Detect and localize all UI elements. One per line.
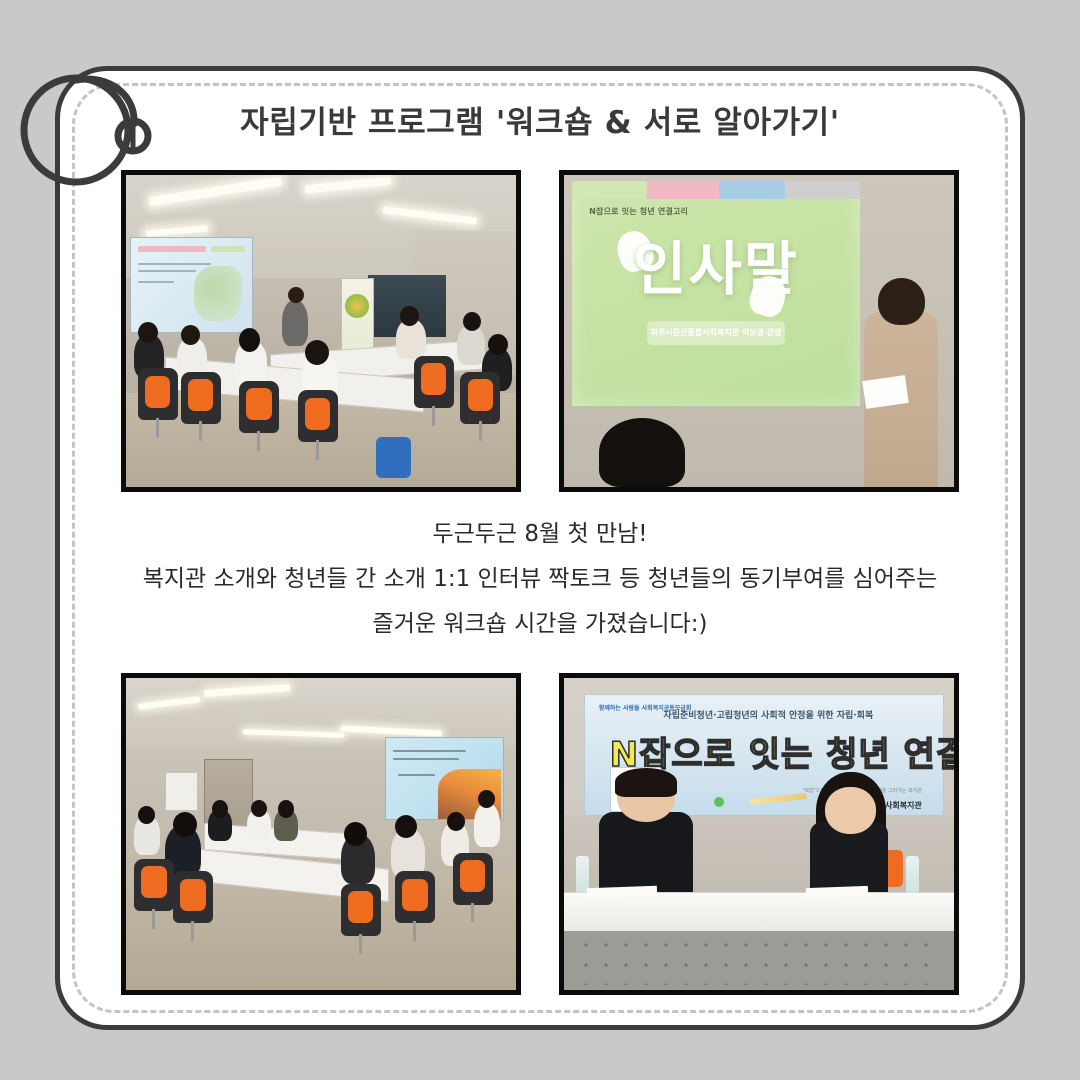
photo-3-scene	[126, 678, 516, 990]
photo-one-on-one-interview[interactable]: 함께하는 사람들 사회복지공동모금회 자립준비청년·고립청년의 사회적 안정을 …	[559, 673, 959, 995]
projection-screen-1	[130, 237, 253, 333]
photo-seminar-room-presentation[interactable]	[121, 170, 521, 492]
ring-clip-icon	[14, 58, 164, 208]
slide-kicker: N잡으로 잇는 청년 연결고리	[589, 206, 688, 217]
caption-line-2: 복지관 소개와 청년들 간 소개 1:1 인터뷰 짝토크 등 청년들의 동기부여…	[90, 557, 990, 602]
caption-line-1: 두근두근 8월 첫 만남!	[90, 512, 990, 557]
banner-subtitle: 자립준비청년·고립청년의 사회적 안정을 위한 자립·회복	[663, 708, 873, 721]
photo-row-bottom: 함께하는 사람들 사회복지공동모금회 자립준비청년·고립청년의 사회적 안정을 …	[121, 673, 959, 995]
photo-greeting-slide[interactable]: N잡으로 잇는 청년 연결고리 인사말 파주시문산종합사회복지관 이보경 관장	[559, 170, 959, 492]
photo-1-scene	[126, 175, 516, 487]
slide-subtitle: 파주시문산종합사회복지관 이보경 관장	[647, 321, 786, 346]
caption-line-3: 즐거운 워크숍 시간을 가졌습니다:)	[90, 602, 990, 647]
photo-4-scene: 함께하는 사람들 사회복지공동모금회 자립준비청년·고립청년의 사회적 안정을 …	[564, 678, 954, 990]
slide-headline: 인사말	[572, 240, 861, 298]
caption-block: 두근두근 8월 첫 만남! 복지관 소개와 청년들 간 소개 1:1 인터뷰 짝…	[90, 512, 990, 647]
projection-screen-2: N잡으로 잇는 청년 연결고리 인사말 파주시문산종합사회복지관 이보경 관장	[572, 181, 861, 406]
photo-row-top: N잡으로 잇는 청년 연결고리 인사말 파주시문산종합사회복지관 이보경 관장	[121, 170, 959, 492]
photo-2-scene: N잡으로 잇는 청년 연결고리 인사말 파주시문산종합사회복지관 이보경 관장	[564, 175, 954, 487]
photo-seminar-room-audience[interactable]	[121, 673, 521, 995]
